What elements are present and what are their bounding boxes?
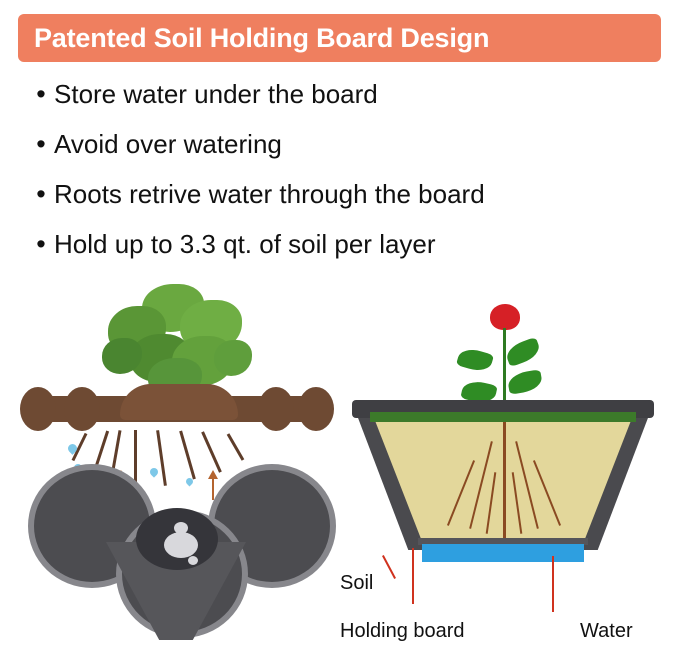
header-banner: Patented Soil Holding Board Design — [18, 14, 661, 62]
bullet-text: Roots retrive water through the board — [54, 172, 485, 216]
product-photo-stacked-planter — [10, 272, 340, 657]
callout-label-water: Water — [580, 620, 633, 643]
water-layer — [422, 544, 584, 562]
bullet-dot-icon: • — [28, 222, 54, 266]
grass-layer — [370, 412, 636, 422]
cross-section-diagram: Soil Holding board Water — [340, 272, 679, 665]
bullet-text: Store water under the board — [54, 72, 378, 116]
planter-pot-icon — [28, 450, 324, 640]
bullet-text: Avoid over watering — [54, 122, 282, 166]
callout-line-water — [552, 556, 554, 612]
soil-holding-board-icon — [24, 384, 330, 432]
bullet-text: Hold up to 3.3 qt. of soil per layer — [54, 222, 436, 266]
bullet-dot-icon: • — [28, 122, 54, 166]
callout-line-holding-board — [412, 548, 414, 604]
bullet-dot-icon: • — [28, 72, 54, 116]
feature-bullet-list: • Store water under the board • Avoid ov… — [28, 72, 668, 272]
callout-label-holding-board: Holding board — [340, 620, 465, 643]
page-title: Patented Soil Holding Board Design — [18, 23, 489, 54]
callout-line-soil — [382, 555, 396, 579]
list-item: • Hold up to 3.3 qt. of soil per layer — [28, 222, 668, 266]
list-item: • Roots retrive water through the board — [28, 172, 668, 216]
bullet-dot-icon: • — [28, 172, 54, 216]
list-item: • Avoid over watering — [28, 122, 668, 166]
callout-label-soil: Soil — [340, 572, 373, 595]
list-item: • Store water under the board — [28, 72, 668, 116]
